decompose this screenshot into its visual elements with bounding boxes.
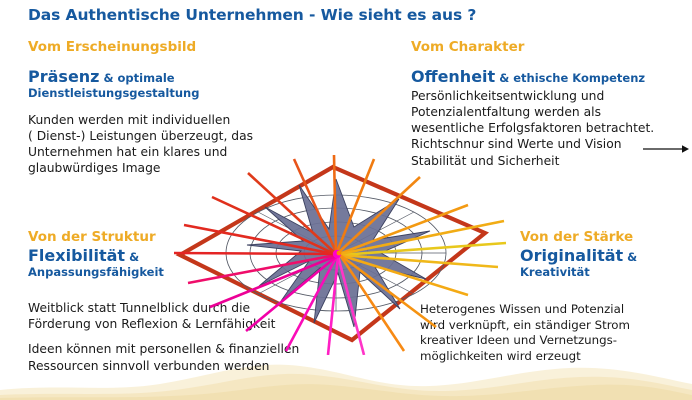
quadrant-bottom-left: Von der Struktur Flexibilität& Anpassung…	[28, 230, 164, 280]
quadrant-top-left-heading: Präsenz& optimale Dienstleistungsgestalt…	[28, 67, 253, 101]
body-line: ( Dienst-) Leistungen überzeugt, das	[28, 128, 253, 144]
quadrant-bottom-left-kicker: Von der Struktur	[28, 230, 164, 246]
heading-strong: Flexibilität	[28, 246, 125, 265]
heading-rest: &	[129, 250, 139, 264]
quadrant-bottom-right: Von der Stärke Originalität& Kreativität	[520, 230, 637, 280]
radar-center-core	[337, 251, 342, 256]
body-line: wesentliche Erfolgsfaktoren betrachtet.	[411, 120, 654, 136]
body-line: Persönlichkeitsentwicklung und	[411, 88, 654, 104]
heading-rest: & ethische Kompetenz	[499, 71, 645, 85]
body-line: Richtschnur sind Werte und Vision	[411, 136, 654, 152]
quadrant-top-left-kicker: Vom Erscheinungsbild	[28, 40, 253, 56]
quadrant-bottom-right-heading: Originalität& Kreativität	[520, 246, 637, 280]
quadrant-bottom-right-kicker: Von der Stärke	[520, 230, 637, 246]
quadrant-top-right-heading: Offenheit& ethische Kompetenz	[411, 67, 654, 86]
heading-strong: Originalität	[520, 246, 623, 265]
slide-canvas: Das Authentische Unternehmen - Wie sieht…	[0, 0, 692, 400]
radar-star-diagram	[168, 155, 508, 355]
body-line: Kunden werden mit individuellen	[28, 112, 253, 128]
quadrant-bottom-left-heading: Flexibilität& Anpassungsfähigkeit	[28, 246, 164, 280]
body-line: Potenzialentfaltung werden als	[411, 104, 654, 120]
body-line: Ressourcen sinnvoll verbunden werden	[28, 358, 299, 374]
heading-line-2: Dienstleistungsgestaltung	[28, 86, 253, 101]
heading-rest: &	[627, 250, 637, 264]
heading-strong: Präsenz	[28, 67, 100, 86]
right-arrow-icon	[643, 142, 689, 156]
quadrant-top-right: Vom Charakter Offenheit& ethische Kompet…	[411, 40, 654, 169]
heading-rest: & optimale	[104, 71, 175, 85]
page-title: Das Authentische Unternehmen - Wie sieht…	[28, 6, 476, 24]
heading-line-2: Kreativität	[520, 265, 637, 280]
heading-line-2: Anpassungsfähigkeit	[28, 265, 164, 280]
heading-strong: Offenheit	[411, 67, 495, 86]
quadrant-top-right-kicker: Vom Charakter	[411, 40, 654, 56]
